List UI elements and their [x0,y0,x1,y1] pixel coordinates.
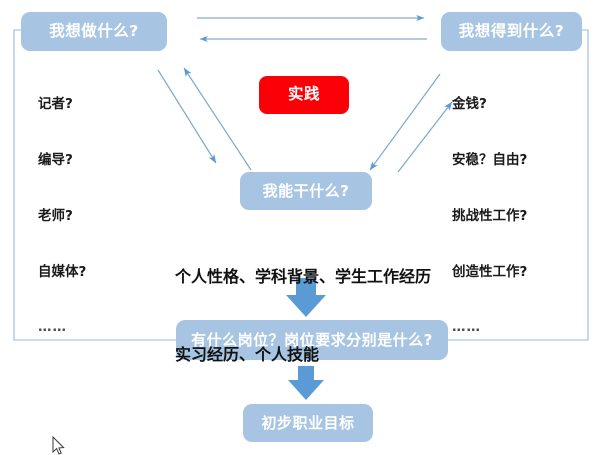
node-what-do-i-want-to-do[interactable]: 我想做什么? [21,12,167,51]
connector-left-up-arrow [184,68,251,170]
list-ellipsis: …… [38,318,86,337]
mouse-pointer-icon [52,436,66,455]
node-what-do-i-want-to-get[interactable]: 我想得到什么? [441,12,582,51]
diagram-canvas: 我想做什么? 我想得到什么? 实践 我能干什么? 有什么岗位？岗位要求分别是什么… [0,0,601,455]
connector-left-down-arrow [158,70,216,163]
list-item: 创造性工作? [452,263,527,282]
list-item: 挑战性工作? [452,207,527,226]
node-practice[interactable]: 实践 [259,76,349,114]
center-text-line-1: 个人性格、学科背景、学生工作经历 [175,264,431,290]
list-item: 安稳？自由? [452,151,527,170]
list-item: 金钱? [452,95,527,114]
center-text-line-2: 实习经历、个人技能 [175,342,431,368]
connector-right-down-arrow [370,74,440,170]
text-personal-attributes: 个人性格、学科背景、学生工作经历 实习经历、个人技能 [175,212,431,420]
list-item: 老师? [38,207,86,226]
list-item: 记者? [38,95,86,114]
connector-right-up-arrow [398,102,452,172]
list-job-options: 记者? 编导? 老师? 自媒体? …… [38,58,86,374]
node-what-can-i-do[interactable]: 我能干什么? [240,172,372,210]
list-item: 编导? [38,151,86,170]
list-desired-outcomes: 金钱? 安稳？自由? 挑战性工作? 创造性工作? …… [452,58,527,374]
list-item: 自媒体? [38,263,86,282]
list-ellipsis: …… [452,318,527,337]
